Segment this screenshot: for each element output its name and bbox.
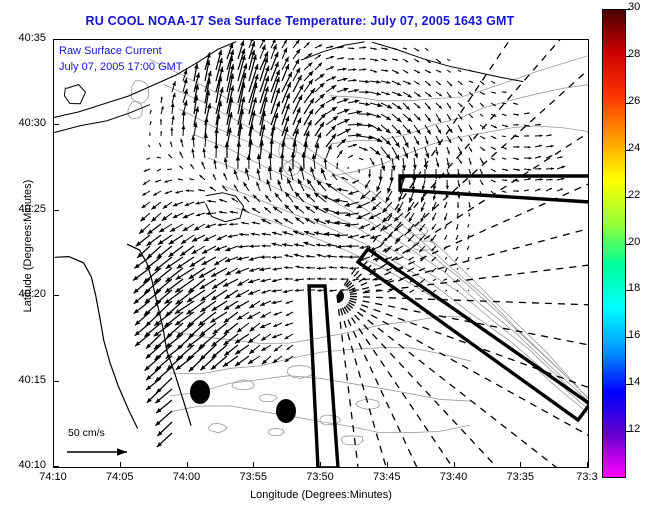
colorbar-tick-mark bbox=[626, 290, 630, 291]
x-tick-mark bbox=[187, 462, 188, 467]
current-vector-map bbox=[54, 40, 588, 467]
x-tick-mark bbox=[587, 462, 588, 467]
x-tick-label: 73:3 bbox=[561, 471, 613, 483]
colorbar-tick-label: 14 bbox=[628, 376, 640, 388]
colorbar-tick-mark bbox=[626, 103, 630, 104]
y-tick-mark bbox=[54, 466, 59, 467]
colorbar-tick-label: 16 bbox=[628, 329, 640, 341]
colorbar-tick-mark bbox=[626, 337, 630, 338]
x-tick-mark bbox=[520, 462, 521, 467]
y-tick-mark bbox=[54, 124, 59, 125]
colorbar-tick-label: 18 bbox=[628, 282, 640, 294]
x-tick-mark bbox=[320, 462, 321, 467]
x-tick-mark bbox=[120, 462, 121, 467]
x-tick-label: 73:55 bbox=[227, 471, 279, 483]
x-tick-label: 73:40 bbox=[428, 471, 480, 483]
x-tick-mark bbox=[387, 462, 388, 467]
x-tick-label: 74:05 bbox=[94, 471, 146, 483]
y-tick-label: 40:20 bbox=[0, 288, 46, 300]
colorbar-tick-mark bbox=[626, 244, 630, 245]
colorbar-tick-label: 28 bbox=[628, 48, 640, 60]
colorbar-tick-label: 26 bbox=[628, 95, 640, 107]
y-tick-label: 40:35 bbox=[0, 32, 46, 44]
y-tick-label: 40:30 bbox=[0, 117, 46, 129]
colorbar-tick-mark bbox=[626, 197, 630, 198]
y-tick-label: 40:10 bbox=[0, 459, 46, 471]
x-axis-label: Longitude (Degrees:Minutes) bbox=[53, 489, 589, 501]
coastline bbox=[54, 42, 523, 429]
colorbar-tick-label: 30 bbox=[628, 1, 640, 13]
colorbar-tick-label: 12 bbox=[628, 423, 640, 435]
colorbar-tick-label: 22 bbox=[628, 189, 640, 201]
y-tick-mark bbox=[54, 39, 59, 40]
x-tick-mark bbox=[253, 462, 254, 467]
colorbar-tick-label: 20 bbox=[628, 236, 640, 248]
y-tick-label: 40:15 bbox=[0, 374, 46, 386]
page-title: RU COOL NOAA-17 Sea Surface Temperature:… bbox=[0, 14, 600, 28]
y-axis-label: Latitude (Degrees:Minutes) bbox=[22, 156, 34, 336]
y-tick-label: 40:25 bbox=[0, 203, 46, 215]
colorbar-tick-mark bbox=[626, 384, 630, 385]
radar-beam-wedges bbox=[309, 176, 588, 467]
y-tick-mark bbox=[54, 381, 59, 382]
y-tick-mark bbox=[54, 210, 59, 211]
x-tick-label: 74:10 bbox=[27, 471, 79, 483]
radar-site-markers bbox=[190, 380, 296, 423]
x-tick-label: 74:00 bbox=[161, 471, 213, 483]
x-tick-label: 73:50 bbox=[294, 471, 346, 483]
colorbar-tick-mark bbox=[626, 56, 630, 57]
x-tick-label: 73:35 bbox=[494, 471, 546, 483]
colorbar-gradient bbox=[603, 10, 625, 477]
x-tick-mark bbox=[454, 462, 455, 467]
colorbar-tick-label: 24 bbox=[628, 142, 640, 154]
y-tick-mark bbox=[54, 295, 59, 296]
x-tick-label: 73:45 bbox=[361, 471, 413, 483]
colorbar-tick-mark bbox=[626, 9, 630, 10]
map-plot-area[interactable]: Raw Surface Current July 07, 2005 17:00 … bbox=[53, 39, 589, 468]
colorbar bbox=[602, 9, 626, 478]
colorbar-tick-mark bbox=[626, 431, 630, 432]
colorbar-tick-mark bbox=[626, 150, 630, 151]
